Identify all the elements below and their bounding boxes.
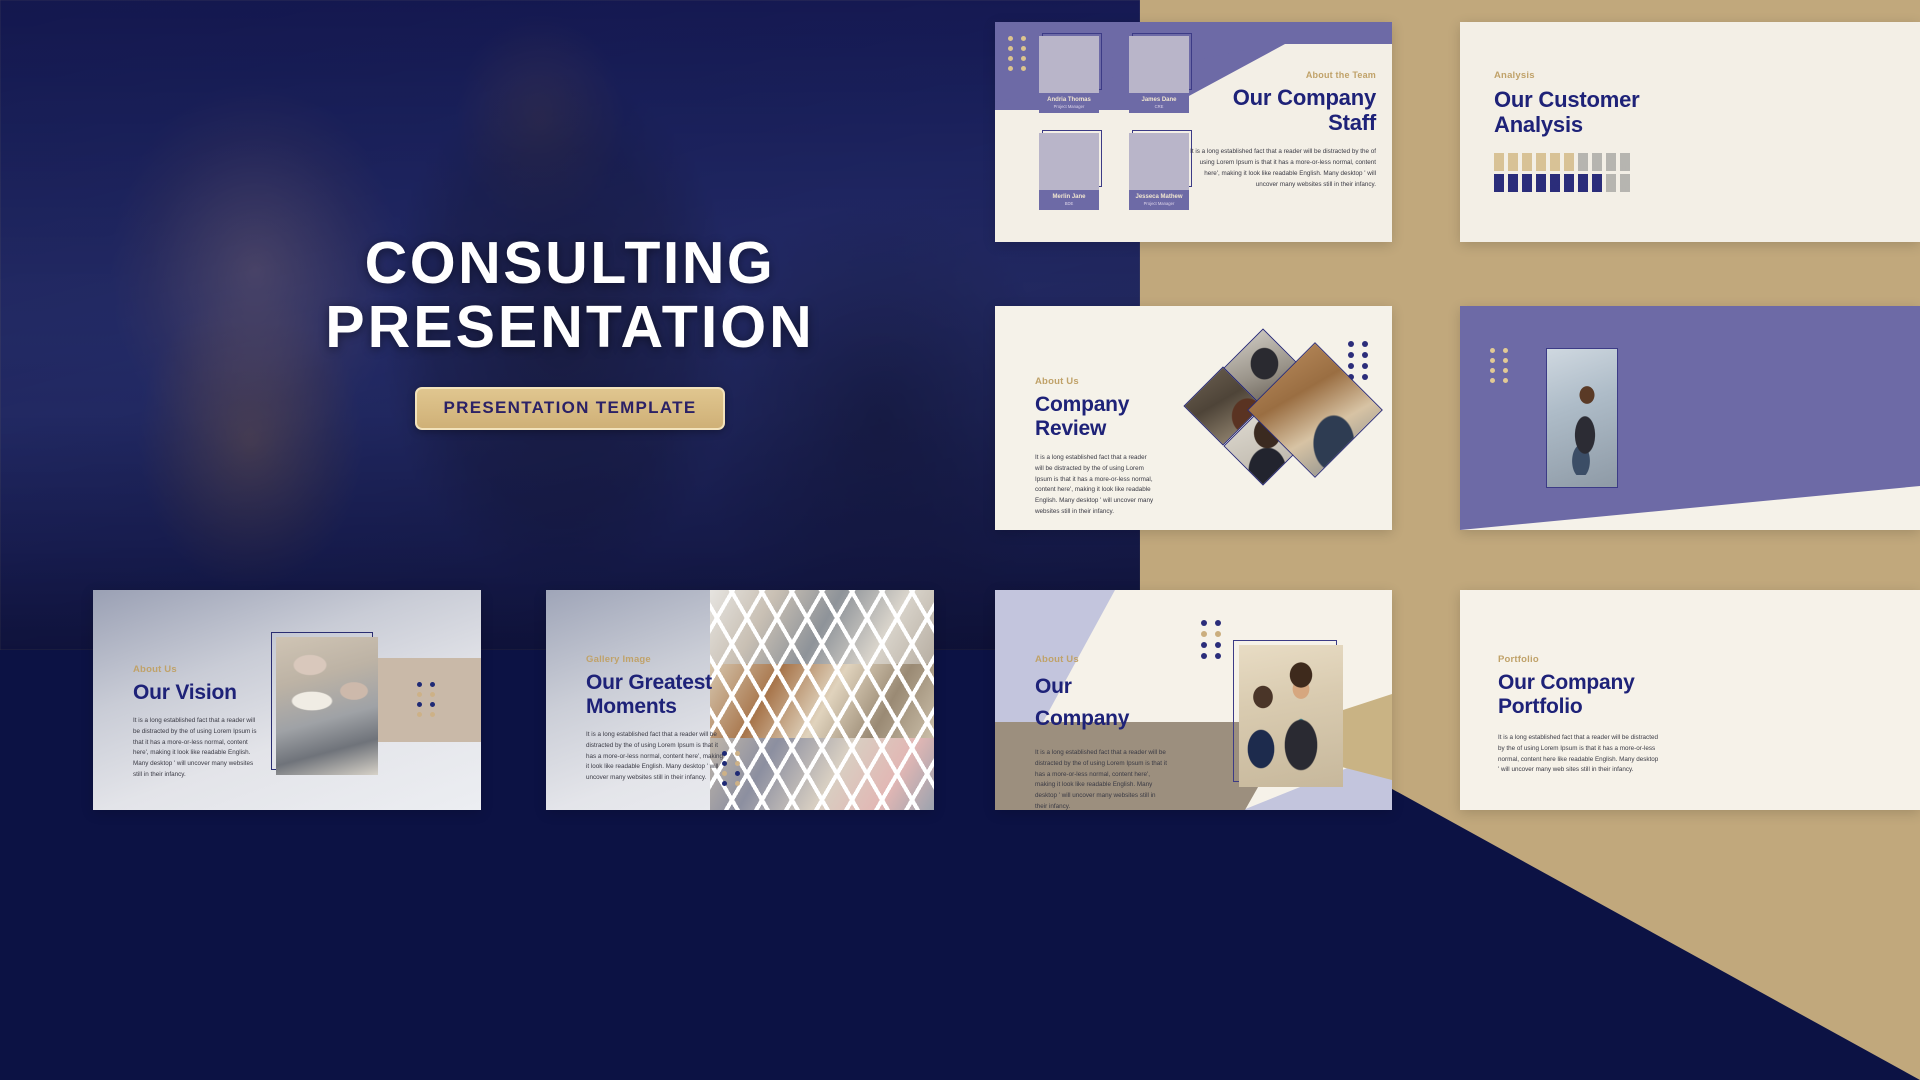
portfolio-body-text: It is a long established fact that a rea…	[1498, 733, 1660, 776]
review-headline-line2: Review	[1035, 417, 1155, 441]
pictogram-row-tan	[1494, 153, 1920, 171]
slide-our-customer-analysis[interactable]: Analysis Our Customer Analysis	[1460, 22, 1920, 242]
hero-content: CONSULTING PRESENTATION PRESENTATION TEM…	[0, 0, 1140, 650]
company-text-block: About Us Our Company It is a long establ…	[1035, 654, 1167, 810]
company-headline-line2: Company	[1035, 703, 1167, 735]
slide-our-greatest-moments[interactable]: Gallery Image Our Greatest Moments It is…	[546, 590, 934, 810]
staff-body-text: It is a long established fact that a rea…	[1190, 147, 1376, 190]
company-photo-frame	[1233, 640, 1337, 782]
moments-eyebrow: Gallery Image	[586, 654, 724, 665]
hero-title: CONSULTING PRESENTATION	[325, 232, 814, 358]
company-body-text: It is a long established fact that a rea…	[1035, 748, 1167, 810]
moments-body-text: It is a long established fact that a rea…	[586, 730, 724, 784]
slide-our-company[interactable]: About Us Our Company It is a long establ…	[995, 590, 1392, 810]
team-role: CRE	[1129, 104, 1189, 113]
vision-body-text: It is a long established fact that a rea…	[133, 716, 263, 781]
analysis-text-block: Analysis Our Customer Analysis	[1460, 22, 1920, 192]
review-headline-line1: Company	[1035, 393, 1155, 417]
team-name: Jesseca Mathew	[1129, 190, 1189, 201]
portfolio-headline-line1: Our Company	[1498, 671, 1660, 695]
vision-photo	[276, 637, 378, 775]
team-photo	[1039, 133, 1099, 190]
staff-headline-line1: Our Company	[1190, 85, 1376, 110]
staff-headline: Our Company Staff	[1190, 85, 1376, 135]
team-name: Andria Thomas	[1039, 93, 1099, 104]
purple-diagonal-shape	[1460, 306, 1920, 530]
review-diamond-photo-cluster	[1191, 344, 1366, 504]
slide-company-review[interactable]: About Us Company Review It is a long est…	[995, 306, 1392, 530]
vision-photo-frame	[271, 632, 373, 770]
staff-dot-grid	[1008, 36, 1026, 71]
slide-our-company-portfolio[interactable]: Portfolio Our Company Portfolio It is a …	[1460, 590, 1920, 810]
company-photo	[1239, 645, 1343, 787]
moments-headline-line1: Our Greatest	[586, 671, 724, 695]
team-photo	[1129, 36, 1189, 93]
team-name: James Dane	[1129, 93, 1189, 104]
portfolio-headline: Our Company Portfolio	[1498, 671, 1660, 719]
moments-headline-line2: Moments	[586, 695, 724, 719]
portfolio-eyebrow: Portfolio	[1498, 654, 1660, 665]
staff-eyebrow: About the Team	[1190, 70, 1376, 80]
hero-cover-slide[interactable]: CONSULTING PRESENTATION PRESENTATION TEM…	[0, 0, 1140, 650]
team-photo	[1129, 133, 1189, 190]
company-headline-line1: Our	[1035, 671, 1167, 703]
moments-text-block: Gallery Image Our Greatest Moments It is…	[586, 654, 724, 784]
team-photo	[1039, 36, 1099, 93]
moments-dot-grid	[722, 751, 740, 786]
company-headline: Our Company	[1035, 671, 1167, 734]
review-eyebrow: About Us	[1035, 376, 1155, 387]
hero-title-line1: CONSULTING	[365, 230, 776, 296]
purple-slide-photo	[1546, 348, 1618, 488]
analysis-headline-line2: Analysis	[1494, 112, 1920, 137]
team-card[interactable]: Jesseca Mathew Project Manager	[1129, 133, 1189, 210]
purple-dot-grid	[1490, 348, 1508, 383]
staff-headline-line2: Staff	[1190, 110, 1376, 135]
team-name: Merlin Jane	[1039, 190, 1099, 201]
team-role: Project Manager	[1039, 104, 1099, 113]
gallery-triangle-mask	[710, 590, 934, 810]
slide-our-vision[interactable]: About Us Our Vision It is a long establi…	[93, 590, 481, 810]
review-text-block: About Us Company Review It is a long est…	[1035, 376, 1155, 518]
analysis-pictogram-chart	[1494, 153, 1920, 192]
portfolio-text-block: Portfolio Our Company Portfolio It is a …	[1460, 590, 1660, 776]
vision-text-block: About Us Our Vision It is a long establi…	[133, 664, 263, 781]
presentation-template-showcase: CONSULTING PRESENTATION PRESENTATION TEM…	[0, 0, 1920, 1080]
team-card[interactable]: Merlin Jane BDE	[1039, 133, 1099, 210]
pictogram-row-navy	[1494, 174, 1920, 192]
team-role: BDE	[1039, 201, 1099, 210]
vision-headline: Our Vision	[133, 681, 263, 705]
company-eyebrow: About Us	[1035, 654, 1167, 665]
vision-dot-grid	[417, 682, 435, 717]
portfolio-headline-line2: Portfolio	[1498, 695, 1660, 719]
analysis-headline: Our Customer Analysis	[1494, 87, 1920, 137]
team-card[interactable]: James Dane CRE	[1129, 36, 1189, 113]
analysis-eyebrow: Analysis	[1494, 70, 1920, 81]
moments-headline: Our Greatest Moments	[586, 671, 724, 719]
team-role: Project Manager	[1129, 201, 1189, 210]
vision-eyebrow: About Us	[133, 664, 263, 675]
slide-purple-photo-partial[interactable]	[1460, 306, 1920, 530]
company-dot-grid	[1201, 620, 1221, 659]
staff-text-block: About the Team Our Company Staff It is a…	[1190, 70, 1376, 190]
hero-title-line2: PRESENTATION	[325, 296, 814, 359]
moments-triangle-gallery	[710, 590, 934, 810]
review-headline: Company Review	[1035, 393, 1155, 441]
presentation-template-badge[interactable]: PRESENTATION TEMPLATE	[415, 387, 724, 430]
team-card[interactable]: Andria Thomas Project Manager	[1039, 36, 1099, 113]
review-body-text: It is a long established fact that a rea…	[1035, 453, 1155, 518]
slide-our-company-staff[interactable]: Andria Thomas Project Manager James Dane…	[995, 22, 1392, 242]
analysis-headline-line1: Our Customer	[1494, 87, 1920, 112]
